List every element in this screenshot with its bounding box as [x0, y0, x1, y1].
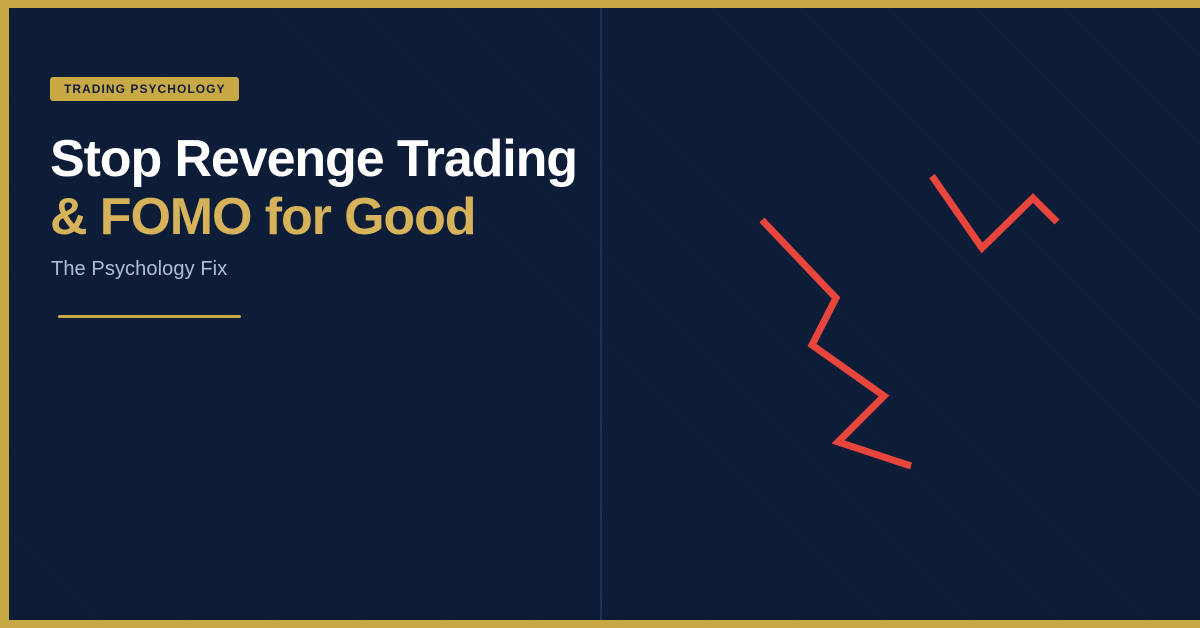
headline-line-1: Stop Revenge Trading: [50, 133, 590, 185]
chart-series-declining-trend: [762, 220, 911, 466]
category-badge: TRADING PSYCHOLOGY: [50, 77, 239, 101]
gold-divider-rule: [58, 315, 241, 318]
column-divider: [600, 8, 602, 620]
headline-line-2: & FOMO for Good: [50, 191, 590, 243]
poster-canvas: TRADING PSYCHOLOGY Stop Revenge Trading …: [0, 0, 1200, 628]
page-title: Stop Revenge Trading & FOMO for Good: [50, 133, 590, 243]
zigzag-line-chart: [609, 8, 1200, 628]
chart-column: [609, 8, 1200, 628]
chart-series-recovery-trend: [932, 176, 1057, 248]
subtitle: The Psychology Fix: [51, 258, 227, 281]
text-column: TRADING PSYCHOLOGY Stop Revenge Trading …: [50, 8, 590, 620]
